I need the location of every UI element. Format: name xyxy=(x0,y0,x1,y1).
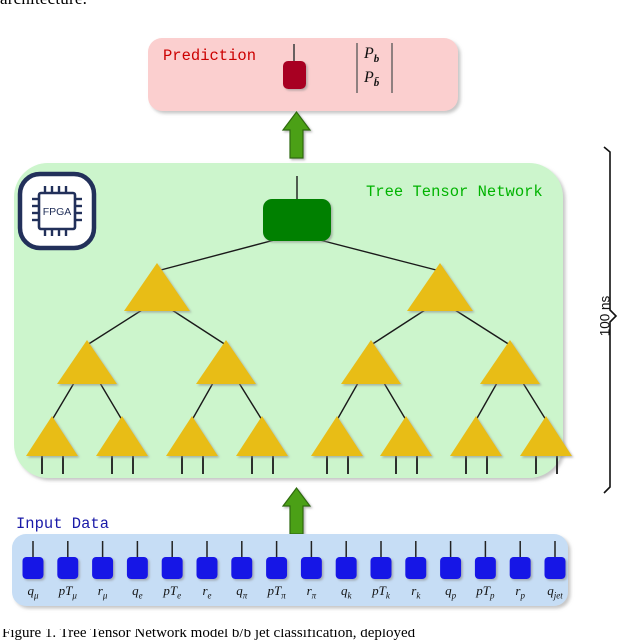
input-node-square xyxy=(336,557,357,579)
prediction-panel: Prediction Pb Pb̄ xyxy=(148,38,458,111)
input-node-square xyxy=(475,557,496,579)
arrow-input-to-ttn xyxy=(283,488,310,534)
input-node-square xyxy=(301,557,322,579)
input-node-square xyxy=(510,557,531,579)
ttn-panel: Tree Tensor Network xyxy=(14,163,572,478)
cropped-body-text: architecture. xyxy=(0,0,87,9)
diagram-canvas: Prediction Pb Pb̄ xyxy=(0,0,632,642)
prediction-node-square xyxy=(283,61,306,89)
ttn-root-square xyxy=(263,199,331,241)
arrow-ttn-to-prediction xyxy=(283,112,310,158)
input-node-square xyxy=(545,557,566,579)
input-node-square xyxy=(127,557,148,579)
prediction-label: Prediction xyxy=(163,47,256,65)
ttn-root-node xyxy=(263,199,331,241)
cropped-body-text-top: architecture. xyxy=(0,0,632,14)
input-node-square xyxy=(405,557,426,579)
input-node-square xyxy=(92,557,113,579)
input-node-square xyxy=(57,557,78,579)
input-node-square xyxy=(162,557,183,579)
input-data-label: Input Data xyxy=(16,515,109,533)
figure-caption-text: Figure 1. Tree Tensor Network model b/b̄… xyxy=(2,629,415,642)
arrow-up-lower-shape xyxy=(283,488,310,534)
input-node-square xyxy=(371,557,392,579)
input-node-square xyxy=(197,557,218,579)
fpga-icon: FPGA xyxy=(20,174,94,248)
arrow-up-upper-shape xyxy=(283,112,310,158)
figure-architecture-diagram: architecture. Prediction xyxy=(0,0,632,642)
input-node-square xyxy=(266,557,287,579)
fpga-icon-label: FPGA xyxy=(43,206,72,218)
latency-bracket: 100 ns xyxy=(598,147,616,493)
input-node-square xyxy=(231,557,252,579)
latency-label: 100 ns xyxy=(598,295,613,336)
figure-caption-clipped: Figure 1. Tree Tensor Network model b/b̄… xyxy=(0,629,632,642)
ttn-label: Tree Tensor Network xyxy=(366,183,543,201)
input-node-square xyxy=(440,557,461,579)
input-node-square xyxy=(23,557,44,579)
